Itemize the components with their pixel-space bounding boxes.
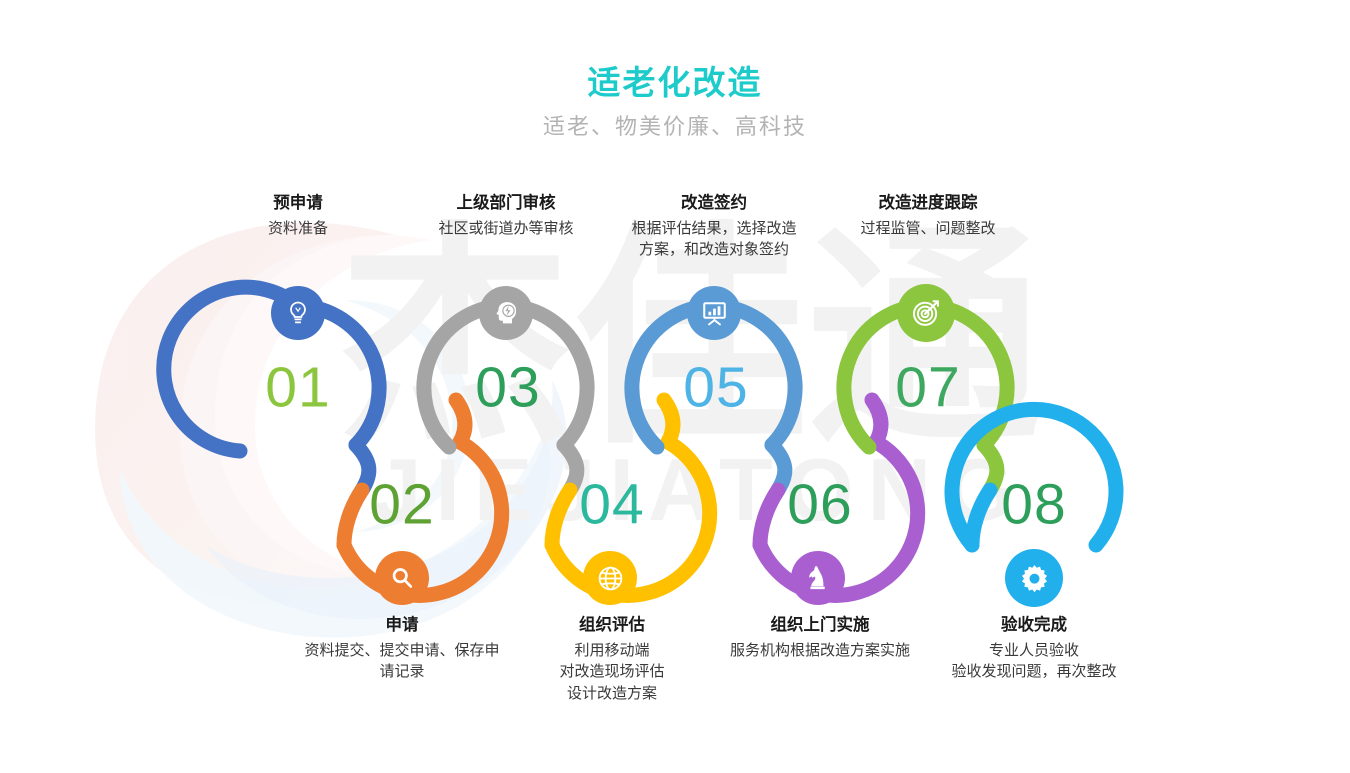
step-number-05: 05 xyxy=(646,360,786,417)
target-icon[interactable] xyxy=(897,284,955,342)
infographic-canvas: 杰佳通 JIEJIATONG 适老化改造 适老、物美价廉、高科技 xyxy=(0,0,1350,773)
caption-step-01: 预申请 资料准备 xyxy=(188,192,408,239)
caption-desc-07: 过程监管、问题整改 xyxy=(798,218,1058,239)
step-number-02: 02 xyxy=(332,477,472,534)
caption-step-08: 验收完成 专业人员验收 验收发现问题，再次整改 xyxy=(894,614,1174,683)
lightbulb-icon[interactable] xyxy=(271,286,325,340)
magnifier-icon[interactable] xyxy=(375,551,429,605)
step-number-08: 08 xyxy=(964,477,1104,534)
caption-title-01: 预申请 xyxy=(188,192,408,216)
caption-step-07: 改造进度跟踪 过程监管、问题整改 xyxy=(798,192,1058,239)
page-subtitle: 适老、物美价廉、高科技 xyxy=(0,113,1350,141)
caption-title-07: 改造进度跟踪 xyxy=(798,192,1058,216)
presentation-chart-icon[interactable] xyxy=(687,286,741,340)
step-number-03: 03 xyxy=(438,360,578,417)
caption-title-08: 验收完成 xyxy=(894,614,1174,638)
caption-desc-01: 资料准备 xyxy=(188,218,408,239)
globe-icon[interactable] xyxy=(583,551,637,605)
head-idea-icon[interactable] xyxy=(479,286,533,340)
header: 适老化改造 适老、物美价廉、高科技 xyxy=(0,62,1350,141)
step-number-07: 07 xyxy=(858,360,998,417)
step-number-01: 01 xyxy=(228,360,368,417)
step-number-04: 04 xyxy=(542,477,682,534)
step-number-06: 06 xyxy=(750,477,890,534)
page-title: 适老化改造 xyxy=(0,62,1350,103)
gear-icon[interactable] xyxy=(1005,549,1063,607)
caption-desc-08: 专业人员验收 验收发现问题，再次整改 xyxy=(894,640,1174,683)
chess-knight-icon[interactable] xyxy=(791,551,845,605)
